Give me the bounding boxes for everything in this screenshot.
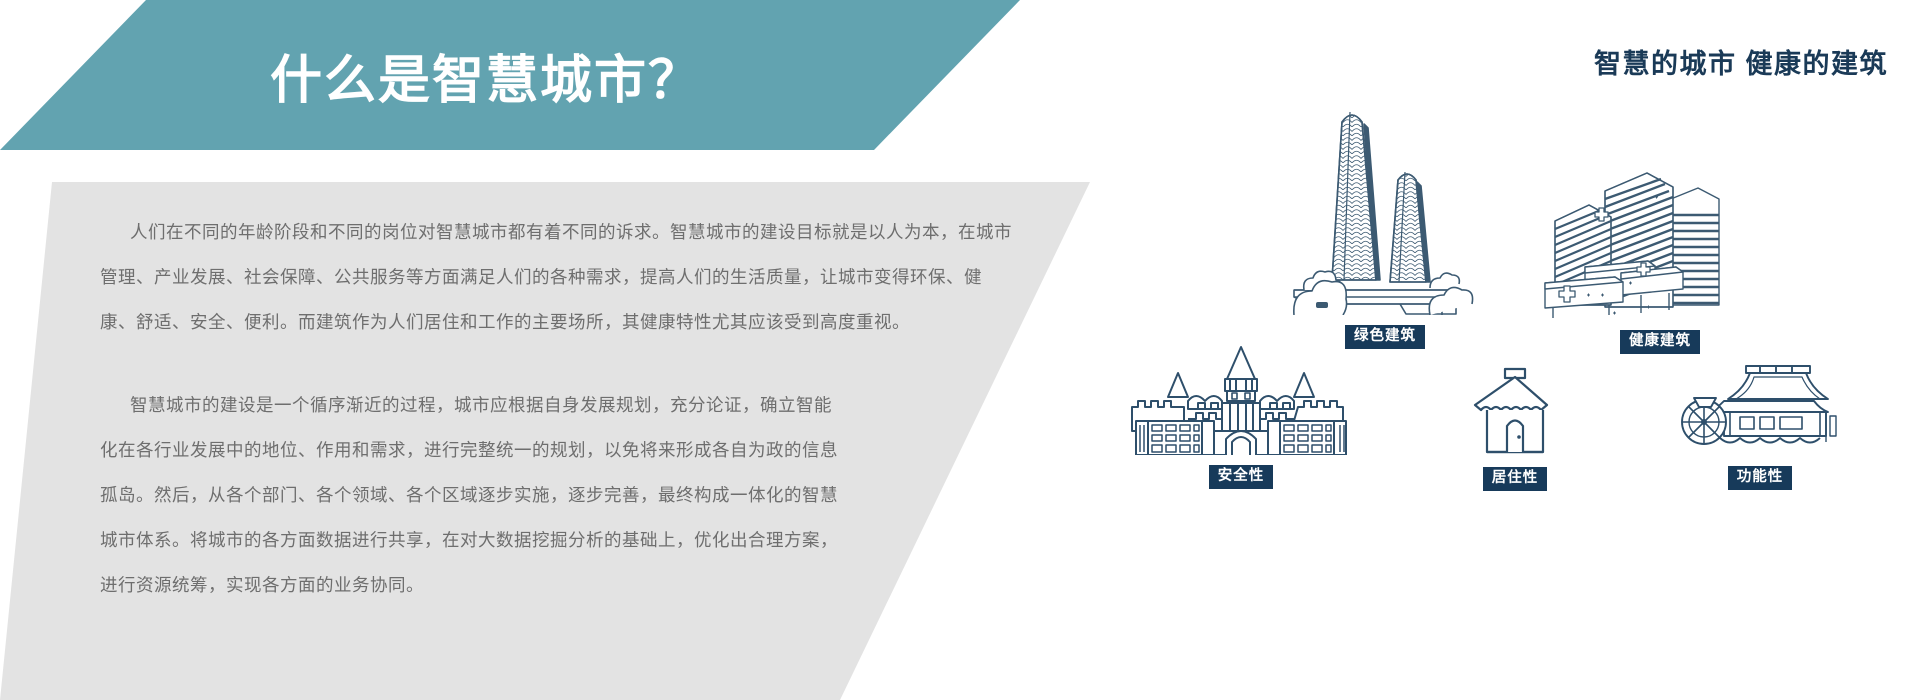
paragraph-line: 城市体系。将城市的各方面数据进行共享，在对大数据挖掘分析的基础上，优化出合理方案… [0, 518, 1000, 563]
illustration-livability: 居住性 [1415, 365, 1615, 491]
right-column: 智慧的城市 健康的建筑 [1100, 0, 1920, 700]
illustration-functionality: 功能性 [1635, 360, 1885, 490]
paragraph-line: 化在各行业发展中的地位、作用和需求，进行完整统一的规划，以免将来形成各自为政的信… [0, 428, 1000, 473]
illustration-green-building: 绿色建筑 [1260, 100, 1510, 349]
slide-root: { "title_banner": { "title": "什么是智慧城市？",… [0, 0, 1920, 700]
right-heading: 智慧的城市 健康的建筑 [1594, 42, 1888, 81]
paragraph-line: 孤岛。然后，从各个部门、各个领域、各个区域逐步实施，逐步完善，最终构成一体化的智… [0, 473, 1000, 518]
label-health-building: 健康建筑 [1620, 330, 1700, 354]
paragraph-line: 管理、产业发展、社会保障、公共服务等方面满足人们的各种需求，提高人们的生活质量，… [0, 255, 1000, 300]
left-column: 什么是智慧城市？ 人们在不同的年龄阶段和不同的岗位对智慧城市都有着不同的诉求。智… [0, 0, 1100, 700]
paragraph-1: 人们在不同的年龄阶段和不同的岗位对智慧城市都有着不同的诉求。智慧城市的建设目标就… [0, 210, 1000, 345]
paragraph-line: 进行资源统筹，实现各方面的业务协同。 [0, 563, 1000, 608]
illustration-safety: 安全性 [1106, 345, 1376, 489]
paragraph-2: 智慧城市的建设是一个循序渐近的过程，城市应根据自身发展规划，充分论证，确立智能 … [0, 383, 1000, 608]
illustration-health-building: 健康建筑 [1520, 155, 1800, 354]
pagoda-watermill-icon [1680, 360, 1840, 456]
title-banner: 什么是智慧城市？ [0, 0, 1020, 150]
hospital-buildings-icon [1543, 155, 1778, 320]
page-title: 什么是智慧城市？ [270, 38, 702, 113]
twin-towers-icon [1280, 100, 1490, 315]
paragraph-line: 康、舒适、安全、便利。而建筑作为人们居住和工作的主要场所，其健康特性尤其应该受到… [0, 300, 1000, 345]
paragraph-line: 智慧城市的建设是一个循序渐近的过程，城市应根据自身发展规划，充分论证，确立智能 [0, 383, 1000, 428]
label-safety: 安全性 [1209, 465, 1274, 489]
house-icon [1467, 365, 1563, 457]
castle-icon [1126, 345, 1356, 455]
label-functionality: 功能性 [1728, 466, 1793, 490]
paragraph-line: 人们在不同的年龄阶段和不同的岗位对智慧城市都有着不同的诉求。智慧城市的建设目标就… [0, 210, 1000, 255]
label-livability: 居住性 [1483, 467, 1548, 491]
body-copy: 人们在不同的年龄阶段和不同的岗位对智慧城市都有着不同的诉求。智慧城市的建设目标就… [0, 182, 1000, 646]
